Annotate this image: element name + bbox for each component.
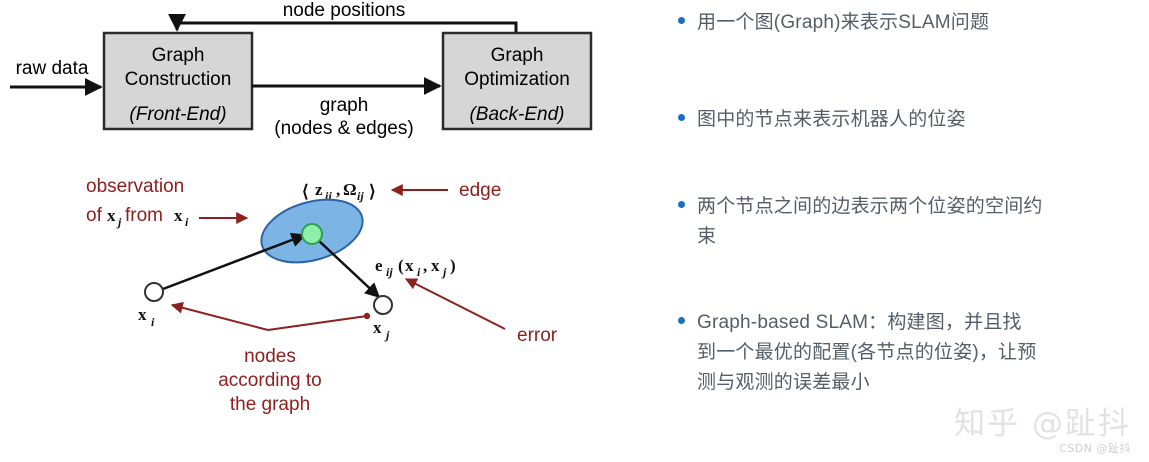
edge-bracket-open: ⟨ xyxy=(302,182,309,201)
observation-xi-sub: i xyxy=(185,215,189,229)
observation-of-text: of xyxy=(86,205,103,226)
edge-comma: , xyxy=(336,180,340,199)
error-arg-xi-symbol: x xyxy=(405,256,414,275)
edge-omega-sub: ij xyxy=(357,189,364,203)
list-item: 图中的节点来表示机器人的位姿 xyxy=(678,105,1140,135)
box-graph-construction-line1: Graph xyxy=(152,45,205,66)
edge-z-symbol: z xyxy=(315,180,323,199)
node-xi-sub: i xyxy=(151,315,155,329)
error-arg-xi-sub: i xyxy=(417,265,421,279)
error-paren-open: ( xyxy=(398,256,404,275)
edge-omega-symbol: Ω xyxy=(343,180,357,199)
box-graph-construction-line2: Construction xyxy=(125,69,232,90)
edge-bracket-close: ⟩ xyxy=(369,182,376,201)
bullet-dot-icon xyxy=(678,17,685,24)
observation-label-line2: of x j from x i xyxy=(86,205,189,229)
observation-xj-symbol: x xyxy=(107,206,116,225)
error-fn-symbol: e xyxy=(375,256,383,275)
node-xj-symbol: x xyxy=(373,318,382,337)
list-item: Graph-based SLAM：构建图，并且找到一个最优的配置(各节点的位姿)… xyxy=(678,308,1140,398)
bullet-text: Graph-based SLAM：构建图，并且找到一个最优的配置(各节点的位姿)… xyxy=(697,308,1036,398)
bullet-text: 用一个图(Graph)来表示SLAM问题 xyxy=(697,8,989,38)
observation-label-line1: observation xyxy=(86,176,184,197)
bullet-dot-icon xyxy=(678,201,685,208)
csdn-watermark: CSDN @趾抖 xyxy=(1059,440,1131,456)
observation-from-text: from xyxy=(125,205,163,226)
observation-xi-symbol: x xyxy=(174,206,183,225)
error-fn-sub: ij xyxy=(386,265,393,279)
error-arg-xj-sub: j xyxy=(441,265,447,279)
edge-prediction-to-xj xyxy=(318,240,379,297)
node-xi-symbol: x xyxy=(138,305,147,324)
box-graph-optimization-line1: Graph xyxy=(491,45,544,66)
feedback-label: node positions xyxy=(283,0,406,21)
error-function-label: e ij ( x i , x j ) xyxy=(375,256,456,279)
error-arg-comma: , xyxy=(423,256,427,275)
edge-annotation-label: edge xyxy=(459,180,501,201)
nodes-annotation-bracket-right xyxy=(268,316,367,330)
graph-illustration: ⟨ z ij , Ω ij ⟩ edge observation of x j … xyxy=(86,176,558,415)
box-graph-construction-sub: (Front-End) xyxy=(129,104,226,125)
list-item: 两个节点之间的边表示两个位姿的空间约束 xyxy=(678,192,1140,252)
box-graph-optimization-sub: (Back-End) xyxy=(469,104,564,125)
error-arg-xj-symbol: x xyxy=(431,256,440,275)
predicted-node-circle xyxy=(302,224,322,244)
graph-flow-label-line1: graph xyxy=(320,95,369,116)
node-xi-label: x i xyxy=(138,305,155,329)
flow-diagram: node positions raw data Graph Constructi… xyxy=(10,0,591,139)
graph-flow-label-line2: (nodes & edges) xyxy=(274,118,413,139)
zhihu-watermark: 知乎 @趾抖 xyxy=(954,398,1131,443)
box-graph-optimization-line2: Optimization xyxy=(464,69,570,90)
bullet-text: 图中的节点来表示机器人的位姿 xyxy=(697,105,966,135)
bullet-dot-icon xyxy=(678,114,685,121)
nodes-annotation-line3: the graph xyxy=(230,394,310,415)
node-xj-circle xyxy=(374,296,392,314)
error-paren-close: ) xyxy=(450,256,456,275)
figure-panel: node positions raw data Graph Constructi… xyxy=(0,0,655,462)
slam-figure-svg: node positions raw data Graph Constructi… xyxy=(0,0,655,462)
error-annotation-label: error xyxy=(517,325,558,346)
bullet-text: 两个节点之间的边表示两个位姿的空间约束 xyxy=(697,192,1043,252)
raw-data-label: raw data xyxy=(16,58,89,79)
notes-panel: 用一个图(Graph)来表示SLAM问题 图中的节点来表示机器人的位姿 两个节点… xyxy=(672,0,1149,462)
error-annotation-arrow xyxy=(406,279,505,329)
node-xi-circle xyxy=(145,283,163,301)
nodes-annotation-bracket-left xyxy=(172,305,268,330)
node-xj-label: x j xyxy=(373,318,390,342)
bullet-dot-icon xyxy=(678,317,685,324)
nodes-annotation-line2: according to xyxy=(218,370,322,391)
observation-xj-sub: j xyxy=(116,215,122,229)
list-item: 用一个图(Graph)来表示SLAM问题 xyxy=(678,8,1140,38)
nodes-annotation-line1: nodes xyxy=(244,346,296,367)
node-xj-sub: j xyxy=(384,328,390,342)
feedback-arrow xyxy=(177,23,516,33)
